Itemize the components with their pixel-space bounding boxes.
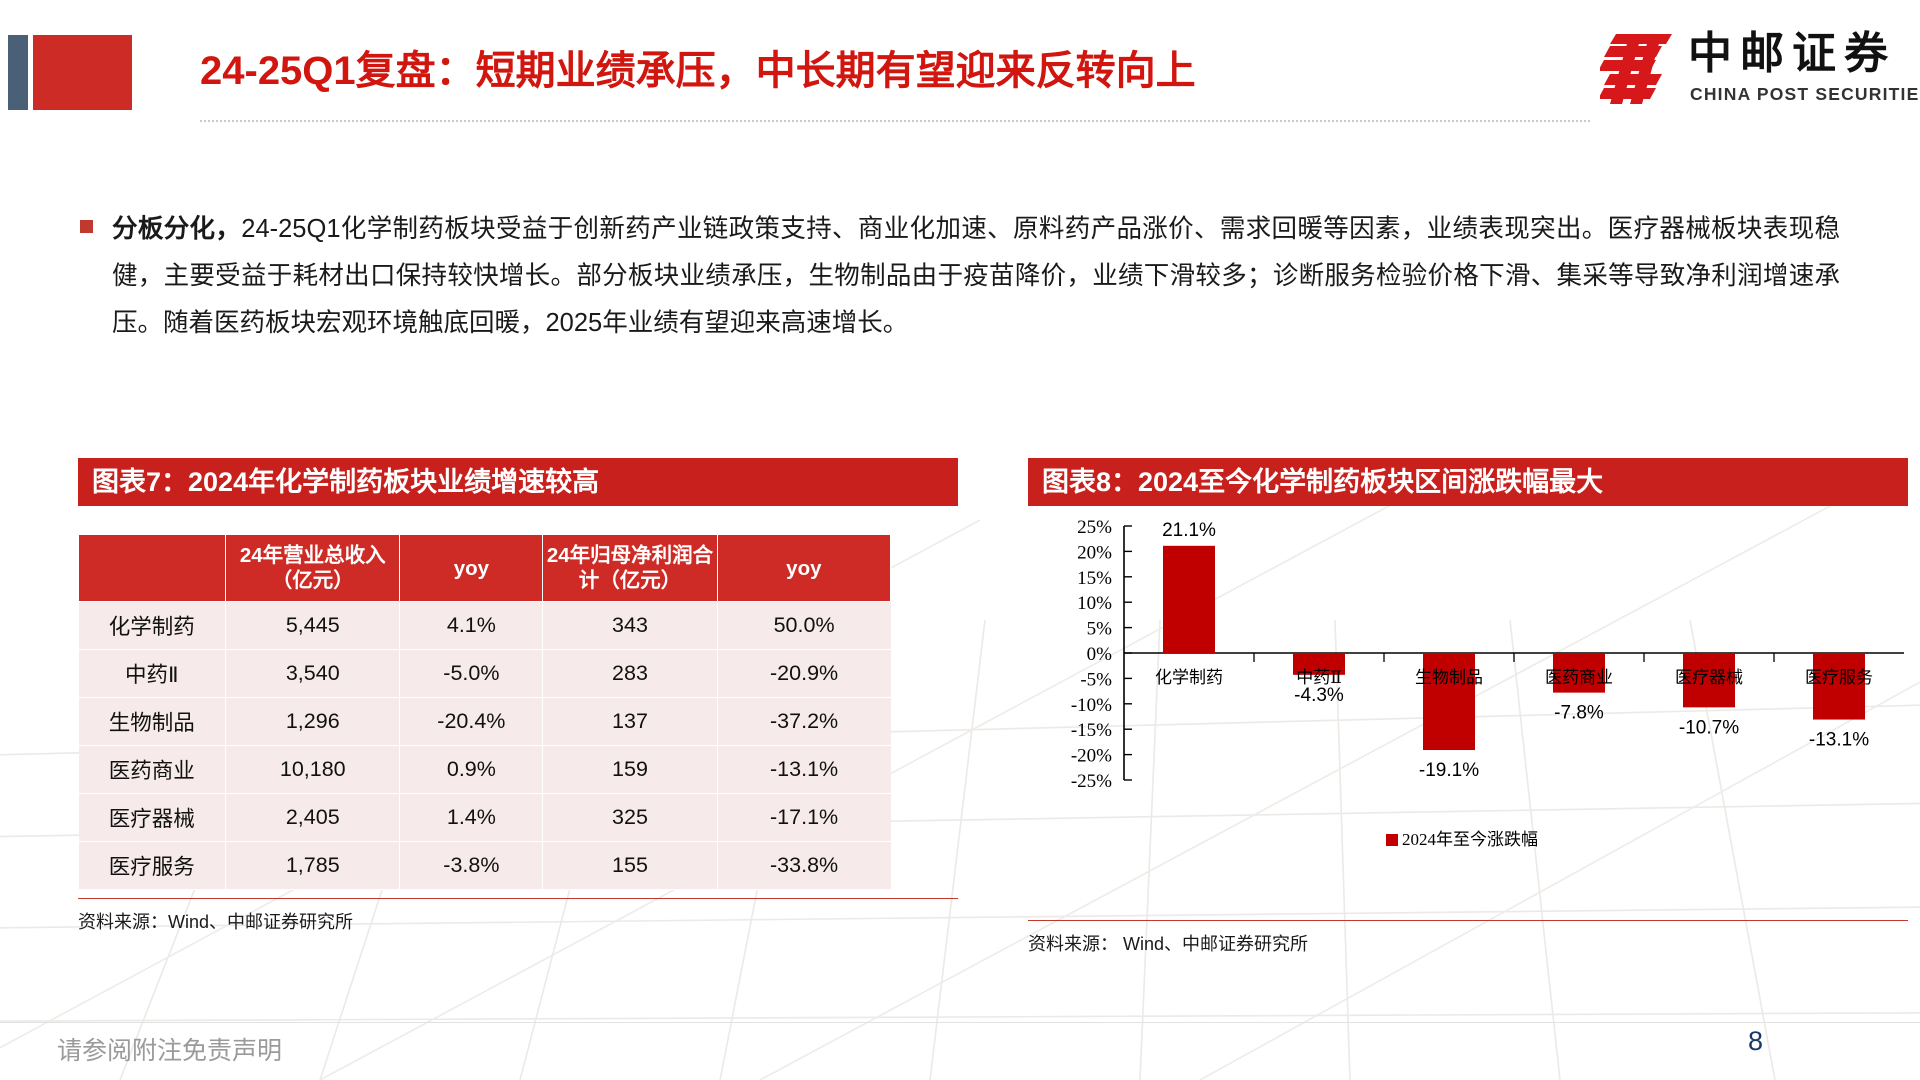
category-label: 医疗器械	[1675, 668, 1743, 687]
table-header-row: 24年营业总收入（亿元） yoy 24年归母净利润合计（亿元） yoy	[79, 535, 891, 602]
value-labels: 21.1%-4.3%-19.1%-7.8%-10.7%-13.1%	[1162, 520, 1869, 781]
chart-axis-lines	[1124, 526, 1904, 780]
table-cell: -33.8%	[717, 842, 890, 890]
table-cell: 5,445	[226, 602, 400, 650]
svg-text:25%: 25%	[1077, 517, 1112, 538]
figure7-panel: 图表7：2024年化学制药板块业绩增速较高 24年营业总收入（亿元） yoy 2…	[78, 458, 958, 934]
svg-text:5%: 5%	[1087, 619, 1113, 640]
table-cell: -20.9%	[717, 650, 890, 698]
table-cell: 155	[543, 842, 717, 890]
table-header-cell-3: 24年归母净利润合计（亿元）	[543, 535, 717, 602]
category-labels: 化学制药中药Ⅱ生物制品医药商业医疗器械医疗服务	[1155, 668, 1873, 687]
bullet-paragraph-block: 分板分化，24-25Q1化学制药板块受益于创新药产业链政策支持、商业化加速、原料…	[80, 206, 1840, 347]
category-label: 医药商业	[1545, 668, 1613, 687]
figure8-panel: 图表8：2024至今化学制药板块区间涨跌幅最大 25%20%15%10%5%0%…	[1028, 458, 1908, 956]
table-cell: 0.9%	[400, 746, 543, 794]
bullet-lead-text: 分板分化，	[112, 215, 241, 243]
header-divider	[200, 120, 1590, 122]
table-cell: 化学制药	[79, 602, 226, 650]
page-number: 8	[1748, 1026, 1763, 1057]
figure7-caption: 图表7：2024年化学制药板块业绩增速较高	[78, 458, 958, 506]
category-label: 生物制品	[1415, 668, 1483, 687]
table-row: 医疗器械 2,405 1.4% 325 -17.1%	[79, 794, 891, 842]
table-cell: 1,785	[226, 842, 400, 890]
logo-english-name: CHINA POST SECURITIES	[1690, 84, 1920, 105]
table-cell: -5.0%	[400, 650, 543, 698]
table-header-cell-4: yoy	[717, 535, 890, 602]
table-cell: 1,296	[226, 698, 400, 746]
header-decoration-blue-bar	[8, 35, 28, 110]
slide-header: 24-25Q1复盘：短期业绩承压，中长期有望迎来反转向上 中邮证券 CHINA …	[0, 0, 1920, 140]
table-cell: 283	[543, 650, 717, 698]
value-label: -7.8%	[1554, 703, 1604, 724]
performance-table: 24年营业总收入（亿元） yoy 24年归母净利润合计（亿元） yoy 化学制药…	[78, 534, 891, 890]
china-post-logo-icon	[1600, 32, 1680, 108]
table-cell: 生物制品	[79, 698, 226, 746]
svg-text:-10%: -10%	[1071, 695, 1112, 716]
table-cell: 医疗服务	[79, 842, 226, 890]
figure7-source: 资料来源：Wind、中邮证券研究所	[78, 898, 958, 934]
figure8-source: 资料来源： Wind、中邮证券研究所	[1028, 920, 1908, 956]
table-cell: 3,540	[226, 650, 400, 698]
svg-text:20%: 20%	[1077, 542, 1112, 563]
table-cell: 2,405	[226, 794, 400, 842]
table-cell: 医药商业	[79, 746, 226, 794]
svg-text:-15%: -15%	[1071, 720, 1112, 741]
chart-bars	[1163, 546, 1865, 750]
table-cell: 159	[543, 746, 717, 794]
logo-chinese-name: 中邮证券	[1688, 28, 1896, 80]
table-cell: 10,180	[226, 746, 400, 794]
table-cell: -3.8%	[400, 842, 543, 890]
value-label: -10.7%	[1679, 717, 1739, 738]
category-label: 化学制药	[1155, 668, 1223, 687]
chart-bar	[1163, 546, 1215, 653]
svg-text:-25%: -25%	[1071, 771, 1112, 792]
table-row: 医疗服务 1,785 -3.8% 155 -33.8%	[79, 842, 891, 890]
table-cell: -37.2%	[717, 698, 890, 746]
table-cell: -13.1%	[717, 746, 890, 794]
table-cell: 137	[543, 698, 717, 746]
value-label: -13.1%	[1809, 730, 1869, 751]
page-title: 24-25Q1复盘：短期业绩承压，中长期有望迎来反转向上	[200, 36, 1550, 106]
table-header-cell-2: yoy	[400, 535, 543, 602]
company-logo: 中邮证券 CHINA POST SECURITIES	[1600, 28, 1900, 112]
table-header-cell-0	[79, 535, 226, 602]
bullet-paragraph: 分板分化，24-25Q1化学制药板块受益于创新药产业链政策支持、商业化加速、原料…	[112, 206, 1840, 347]
svg-text:0%: 0%	[1087, 644, 1113, 665]
svg-text:-20%: -20%	[1071, 746, 1112, 767]
table-row: 中药Ⅱ 3,540 -5.0% 283 -20.9%	[79, 650, 891, 698]
legend-swatch	[1386, 834, 1398, 846]
table-cell: 4.1%	[400, 602, 543, 650]
table-cell: 医疗器械	[79, 794, 226, 842]
figure8-caption: 图表8：2024至今化学制药板块区间涨跌幅最大	[1028, 458, 1908, 506]
bullet-body-text: 24-25Q1化学制药板块受益于创新药产业链政策支持、商业化加速、原料药产品涨价…	[112, 215, 1840, 337]
table-cell: -20.4%	[400, 698, 543, 746]
table-cell: 325	[543, 794, 717, 842]
table-cell: 343	[543, 602, 717, 650]
header-decoration-red-block	[33, 35, 132, 110]
chart-legend: 2024年至今涨跌幅	[1386, 830, 1538, 849]
bar-chart: 25%20%15%10%5%0%-5%-10%-15%-20%-25% 化学制药…	[1028, 512, 1908, 912]
svg-text:-5%: -5%	[1080, 669, 1112, 690]
svg-text:10%: 10%	[1077, 593, 1112, 614]
bullet-square-icon	[80, 220, 93, 233]
legend-label: 2024年至今涨跌幅	[1402, 830, 1538, 849]
table-cell: 50.0%	[717, 602, 890, 650]
footer-divider	[0, 1022, 1920, 1023]
table-header-cell-1: 24年营业总收入（亿元）	[226, 535, 400, 602]
value-label: -19.1%	[1419, 760, 1479, 781]
table-row: 生物制品 1,296 -20.4% 137 -37.2%	[79, 698, 891, 746]
table-row: 医药商业 10,180 0.9% 159 -13.1%	[79, 746, 891, 794]
table-row: 化学制药 5,445 4.1% 343 50.0%	[79, 602, 891, 650]
value-label: 21.1%	[1162, 520, 1216, 541]
y-axis-tick-labels: 25%20%15%10%5%0%-5%-10%-15%-20%-25%	[1071, 517, 1112, 792]
table-cell: 中药Ⅱ	[79, 650, 226, 698]
table-cell: -17.1%	[717, 794, 890, 842]
disclaimer-note: 请参阅附注免责声明	[57, 1031, 282, 1067]
svg-text:15%: 15%	[1077, 568, 1112, 589]
bar-chart-svg: 25%20%15%10%5%0%-5%-10%-15%-20%-25% 化学制药…	[1028, 512, 1908, 912]
table-cell: 1.4%	[400, 794, 543, 842]
value-label: -4.3%	[1294, 685, 1344, 706]
category-label: 医疗服务	[1805, 668, 1873, 687]
